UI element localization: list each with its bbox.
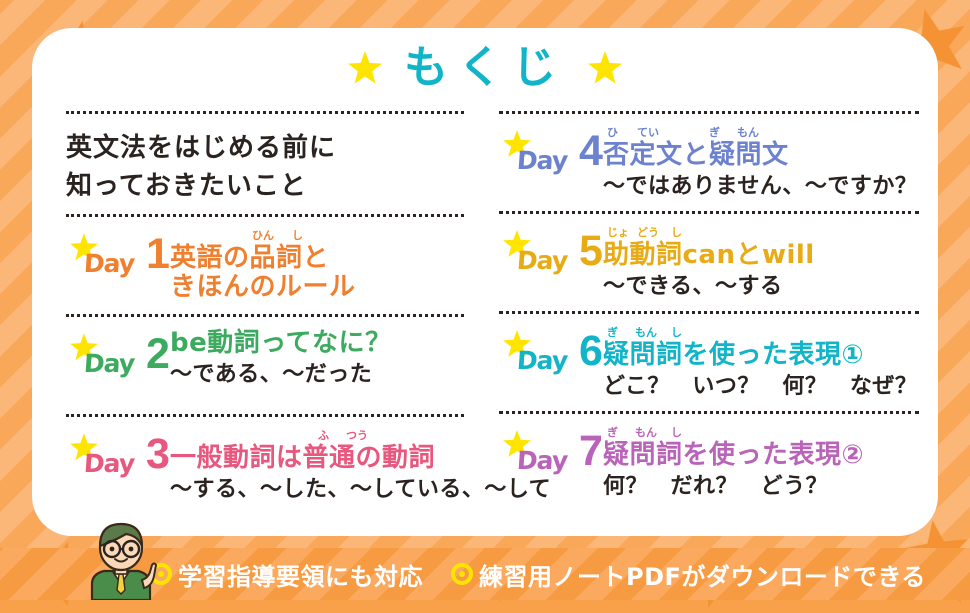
day-number: 7	[579, 430, 603, 473]
toc-entry-day7[interactable]: Day 7 ぎ もん し 疑問詞を使った表現② 何？ だれ？ どう？	[499, 424, 918, 502]
ruby-annotations: ぎ もん し	[603, 426, 918, 441]
page-title: もくじ	[32, 46, 938, 90]
entry-title: 疑問詞を使った表現②	[603, 441, 918, 470]
toc-entry-day2[interactable]: Day 2 be動詞ってなに？ 〜である、〜だった	[66, 327, 469, 405]
ruby-text: ぎ	[607, 326, 618, 339]
banner-item-2: 練習用ノートPDFがダウンロードできる	[451, 557, 926, 592]
divider	[499, 111, 919, 114]
ruby-text: もん	[737, 126, 759, 139]
day-label: Day	[516, 446, 568, 475]
day-number: 3	[146, 433, 170, 476]
day-number: 5	[579, 230, 603, 273]
toc-entry-intro[interactable]: 英文法をはじめる前に 知っておきたいこと	[66, 124, 469, 205]
toc-column-right: Day 4 ひ てい ぎ もん 否定文と疑問文 〜ではありません、〜ですか？	[485, 102, 938, 505]
entry-title: 助動詞canとwill	[603, 241, 918, 270]
page-title-text: もくじ	[404, 46, 566, 90]
toc-entry-day6[interactable]: Day 6 ぎ もん し 疑問詞を使った表現① どこ？ いつ？ 何？ なぜ？	[499, 324, 918, 402]
day-label: Day	[83, 349, 135, 378]
banner-item-1: 学習指導要領にも対応	[150, 557, 423, 592]
entry-body: ひん し 英語の品詞と きほんのルール	[170, 227, 469, 302]
ruby-text: じょ	[607, 226, 629, 239]
ruby-annotations: ふ つう	[170, 429, 551, 444]
day-label: Day	[516, 146, 568, 175]
intro-title: 英文法をはじめる前に 知っておきたいこと	[66, 130, 336, 205]
ruby-text: ひん	[252, 229, 274, 242]
ruby-text: どう	[637, 226, 659, 239]
double-circle-icon	[451, 563, 473, 585]
toc-entry-day4[interactable]: Day 4 ひ てい ぎ もん 否定文と疑問文 〜ではありません、〜ですか？	[499, 124, 918, 202]
divider	[66, 111, 464, 114]
divider	[66, 214, 464, 217]
divider	[499, 211, 919, 214]
star-icon	[588, 51, 622, 85]
entry-subtitle: 〜である、〜だった	[170, 362, 469, 388]
toc-entry-day1[interactable]: Day 1 ひん し 英語の品詞と きほんのルール	[66, 227, 469, 305]
day-label: Day	[83, 249, 135, 278]
day-badge: Day 5	[499, 224, 603, 286]
star-icon	[348, 51, 382, 85]
ruby-text: ひ	[607, 126, 618, 139]
divider	[499, 411, 919, 414]
day-badge: Day 6	[499, 324, 603, 386]
day-badge: Day 7	[499, 424, 603, 486]
ruby-text: もん	[635, 426, 657, 439]
entry-subtitle: 何？ だれ？ どう？	[603, 474, 918, 500]
day-badge: Day 1	[66, 227, 170, 289]
ruby-text: もん	[635, 326, 657, 339]
ruby-annotations: ぎ もん し	[603, 326, 918, 341]
teacher-character-illustration	[78, 522, 164, 600]
toc-entry-day5[interactable]: Day 5 じょ どう し 助動詞canとwill 〜できる、〜する	[499, 224, 918, 302]
ruby-annotations: ひ てい ぎ もん	[603, 126, 918, 141]
entry-title-line2: きほんのルール	[170, 273, 469, 302]
ruby-text: つう	[346, 429, 368, 442]
divider	[66, 414, 464, 417]
day-number: 4	[579, 130, 603, 173]
day-number: 6	[579, 330, 603, 373]
entry-title: 疑問詞を使った表現①	[603, 341, 918, 370]
divider	[66, 314, 464, 317]
content-card: もくじ 英文法をはじめる前に 知っておきたいこと Day 1	[32, 28, 938, 536]
day-badge: Day 4	[499, 124, 603, 186]
divider	[499, 311, 919, 314]
ruby-annotations: じょ どう し	[603, 226, 918, 241]
entry-subtitle: 〜ではありません、〜ですか？	[603, 174, 918, 200]
entry-title: be動詞ってなに？	[170, 329, 469, 358]
day-label: Day	[516, 246, 568, 275]
day-badge: Day 2	[66, 327, 170, 389]
ruby-text: ぎ	[607, 426, 618, 439]
day-label: Day	[516, 346, 568, 375]
day-label: Day	[83, 449, 135, 478]
entry-body: ぎ もん し 疑問詞を使った表現① どこ？ いつ？ 何？ なぜ？	[603, 324, 918, 401]
entry-subtitle: 〜できる、〜する	[603, 274, 918, 300]
banner-text-1: 学習指導要領にも対応	[178, 557, 423, 592]
day-number: 2	[146, 333, 170, 376]
ruby-text: てい	[637, 126, 659, 139]
entry-body: じょ どう し 助動詞canとwill 〜できる、〜する	[603, 224, 918, 301]
toc-entry-day3[interactable]: Day 3 ふ つう 一般動詞は普通の動詞 〜する、〜した、〜している、〜して	[66, 427, 469, 505]
ruby-text: し	[671, 226, 682, 239]
ruby-annotations: ひん し	[170, 229, 469, 244]
toc-columns: 英文法をはじめる前に 知っておきたいこと Day 1 ひん し 英語の品詞と	[32, 102, 938, 505]
toc-column-left: 英文法をはじめる前に 知っておきたいこと Day 1 ひん し 英語の品詞と	[32, 102, 485, 505]
intro-line-2: 知っておきたいこと	[66, 168, 336, 206]
entry-body: be動詞ってなに？ 〜である、〜だった	[170, 327, 469, 389]
entry-body: ぎ もん し 疑問詞を使った表現② 何？ だれ？ どう？	[603, 424, 918, 501]
entry-title: 英語の品詞と	[170, 244, 469, 273]
ruby-text: ふ	[318, 429, 329, 442]
entry-subtitle: どこ？ いつ？ 何？ なぜ？	[603, 374, 918, 400]
entry-title: 否定文と疑問文	[603, 141, 918, 170]
ruby-text: し	[671, 426, 682, 439]
day-badge: Day 3	[66, 427, 170, 489]
entry-body: ひ てい ぎ もん 否定文と疑問文 〜ではありません、〜ですか？	[603, 124, 918, 201]
day-number: 1	[146, 233, 170, 276]
ruby-text: し	[292, 229, 303, 242]
ruby-text: し	[671, 326, 682, 339]
intro-line-1: 英文法をはじめる前に	[66, 130, 336, 168]
ruby-text: ぎ	[709, 126, 720, 139]
banner-text-2: 練習用ノートPDFがダウンロードできる	[479, 557, 926, 592]
